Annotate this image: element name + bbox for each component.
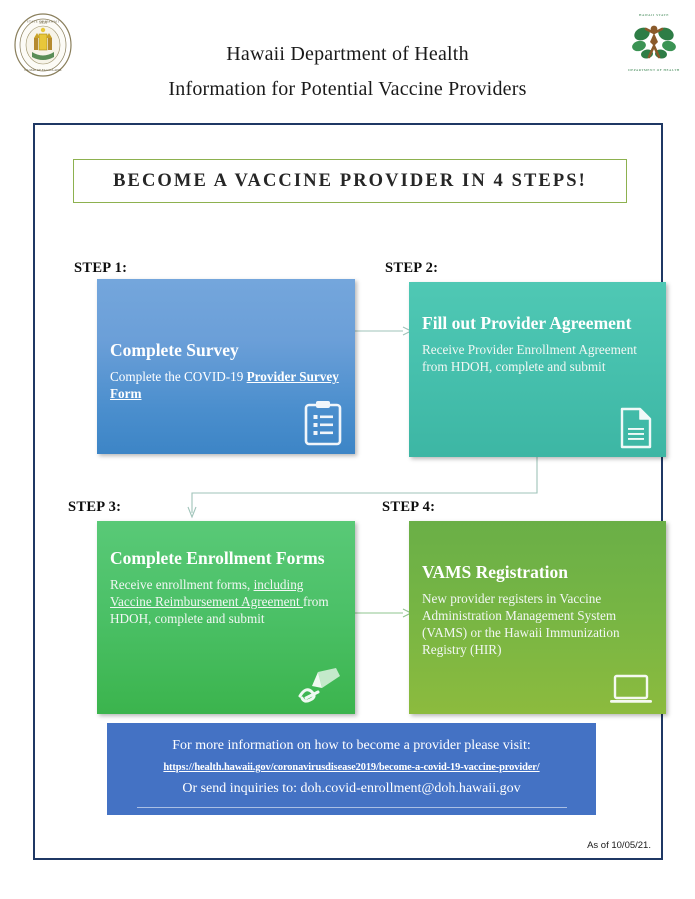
info-divider <box>137 807 567 808</box>
step-1-label: STEP 1: <box>74 260 127 277</box>
step-1-card[interactable]: Complete Survey Complete the COVID-19 Pr… <box>97 279 355 454</box>
connector-step2-to-step3 <box>155 451 545 523</box>
info-box: For more information on how to become a … <box>107 723 596 815</box>
banner: BECOME A VACCINE PROVIDER IN 4 STEPS! <box>73 159 627 203</box>
step-3-title: Complete Enrollment Forms <box>110 521 342 570</box>
step-1-body-text: Complete the COVID-19 <box>110 369 247 384</box>
header-titles: Hawaii Department of Health Information … <box>95 40 600 104</box>
state-of-hawaii-seal: 1959 STATE OF HAWAII UA MAU KE EA O KA A… <box>10 12 76 78</box>
as-of-date: As of 10/05/21. <box>587 840 651 851</box>
step-1-title: Complete Survey <box>110 279 342 362</box>
hawaii-department-of-health-logo: HAWAII STATE DEPARTMENT OF HEALTH <box>620 8 688 76</box>
step-4-body: New provider registers in Vaccine Admini… <box>422 590 653 658</box>
step-2-title: Fill out Provider Agreement <box>422 282 653 335</box>
document-icon <box>619 407 653 449</box>
clipboard-checklist-icon <box>304 400 342 446</box>
svg-text:DEPARTMENT OF HEALTH: DEPARTMENT OF HEALTH <box>628 68 680 72</box>
laptop-icon <box>609 674 653 706</box>
svg-text:STATE OF HAWAII: STATE OF HAWAII <box>27 20 59 24</box>
step-3-body: Receive enrollment forms, including Vacc… <box>110 576 342 627</box>
svg-text:UA MAU KE EA O KA AINA: UA MAU KE EA O KA AINA <box>24 68 62 72</box>
step-2-label: STEP 2: <box>385 260 438 277</box>
step-3-label: STEP 3: <box>68 499 121 516</box>
page-header: 1959 STATE OF HAWAII UA MAU KE EA O KA A… <box>0 0 695 120</box>
step-4-card[interactable]: VAMS Registration New provider registers… <box>409 521 666 714</box>
page-subtitle: Information for Potential Vaccine Provid… <box>95 74 600 104</box>
provider-info-url-link[interactable]: https://health.hawaii.gov/coronavirusdis… <box>107 758 596 777</box>
step-3-body-text-pre: Receive enrollment forms, <box>110 577 254 592</box>
info-line-1: For more information on how to become a … <box>107 734 596 758</box>
step-2-body: Receive Provider Enrollment Agreement fr… <box>422 341 653 375</box>
content-frame: BECOME A VACCINE PROVIDER IN 4 STEPS! ST… <box>33 123 663 860</box>
step-3-card[interactable]: Complete Enrollment Forms Receive enroll… <box>97 521 355 714</box>
step-1-body: Complete the COVID-19 Provider Survey Fo… <box>110 368 342 402</box>
page-title: Hawaii Department of Health <box>95 40 600 68</box>
banner-text: BECOME A VACCINE PROVIDER IN 4 STEPS! <box>113 171 587 192</box>
step-2-card[interactable]: Fill out Provider Agreement Receive Prov… <box>409 282 666 457</box>
info-line-3: Or send inquiries to: doh.covid-enrollme… <box>107 777 596 801</box>
signature-pen-icon <box>298 666 342 706</box>
svg-text:HAWAII STATE: HAWAII STATE <box>639 13 669 17</box>
step-4-title: VAMS Registration <box>422 521 653 584</box>
